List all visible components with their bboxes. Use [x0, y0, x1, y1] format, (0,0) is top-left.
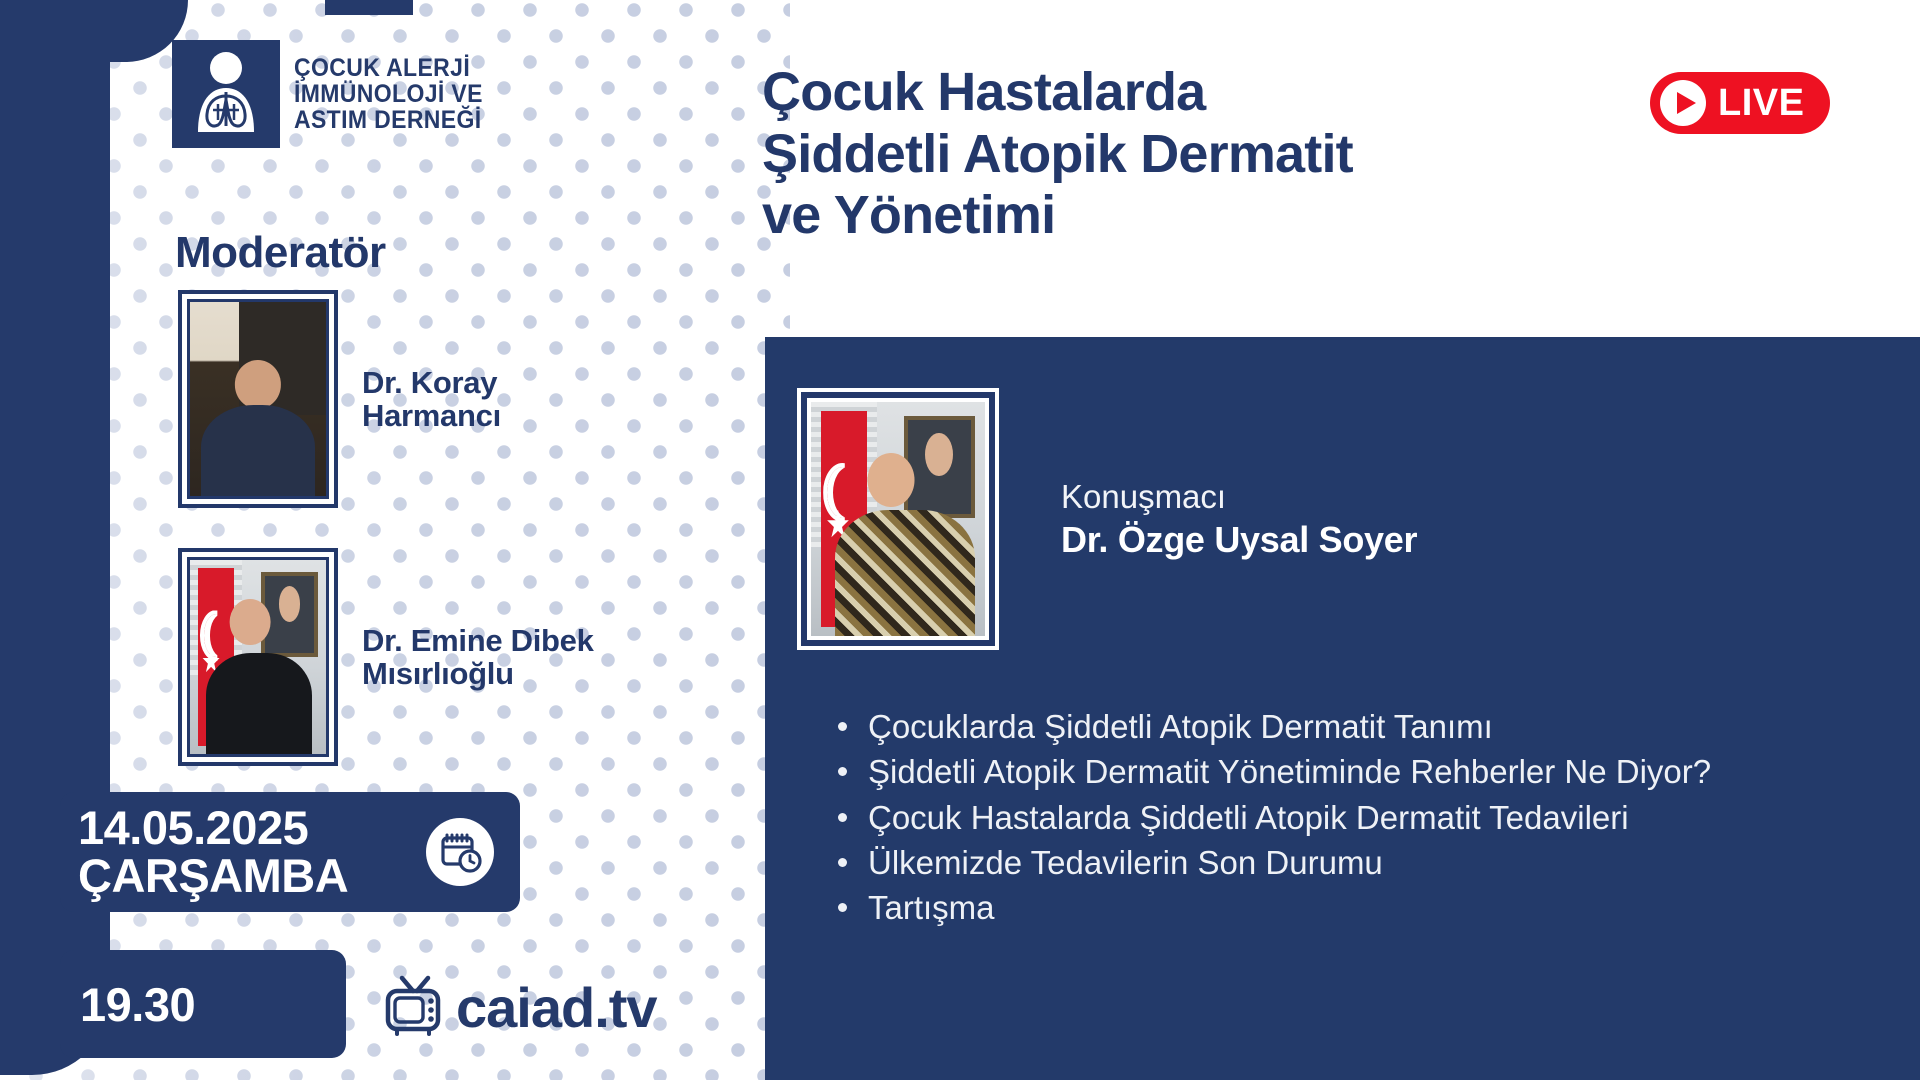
- event-time-box: 19.30: [60, 950, 346, 1058]
- list-item: Ülkemizde Tedavilerin Son Durumu: [830, 842, 1890, 883]
- event-date-box: 14.05.2025 ÇARŞAMBA: [60, 792, 520, 912]
- top-navy-accent-bar: [325, 0, 413, 15]
- moderator-heading: Moderatör: [175, 228, 386, 278]
- moderator-item: Dr. Emine Dibek Mısırlıoğlu: [178, 548, 642, 766]
- moderator-name: Dr. Emine Dibek Mısırlıoğlu: [362, 624, 642, 691]
- association-name: ÇOCUK ALERJİ İMMÜNOLOJİ VE ASTIM DERNEĞİ: [294, 55, 483, 133]
- avatar: [811, 402, 985, 636]
- dot-fade-overlay: [0, 0, 790, 1080]
- list-item: Şiddetli Atopik Dermatit Yönetiminde Reh…: [830, 751, 1890, 792]
- moderator-name: Dr. Koray Harmancı: [362, 366, 642, 433]
- left-navy-bar: [0, 0, 110, 1075]
- speaker-name: Dr. Özge Uysal Soyer: [1061, 517, 1417, 562]
- television-icon: [382, 972, 448, 1043]
- association-logo: ÇOCUK ALERJİ İMMÜNOLOJİ VE ASTIM DERNEĞİ: [172, 40, 499, 148]
- avatar: [190, 560, 326, 754]
- page-title: Çocuk Hastalarda Şiddetli Atopik Dermati…: [762, 62, 1542, 247]
- moderator-photo-frame: [178, 548, 338, 766]
- event-time: 19.30: [80, 977, 195, 1032]
- live-badge[interactable]: LIVE: [1650, 72, 1830, 134]
- live-label: LIVE: [1718, 82, 1804, 125]
- person-lungs-icon: [172, 40, 280, 148]
- list-item: Çocuk Hastalarda Şiddetli Atopik Dermati…: [830, 797, 1890, 838]
- webinar-poster: ÇOCUK ALERJİ İMMÜNOLOJİ VE ASTIM DERNEĞİ…: [0, 0, 1920, 1080]
- moderator-photo-frame: [178, 290, 338, 508]
- topic-list: Çocuklarda Şiddetli Atopik Dermatit Tanı…: [830, 706, 1890, 932]
- list-item: Çocuklarda Şiddetli Atopik Dermatit Tanı…: [830, 706, 1890, 747]
- broadcast-url: caiad.tv: [456, 975, 657, 1040]
- event-date: 14.05.2025 ÇARŞAMBA: [78, 804, 348, 900]
- calendar-clock-icon: [426, 818, 494, 886]
- speaker-role: Konuşmacı: [1061, 476, 1417, 517]
- speaker-block: Konuşmacı Dr. Özge Uysal Soyer: [797, 388, 1417, 650]
- avatar: [190, 302, 326, 496]
- play-icon: [1660, 80, 1706, 126]
- moderator-item: Dr. Koray Harmancı: [178, 290, 642, 508]
- list-item: Tartışma: [830, 887, 1890, 928]
- speaker-photo-frame: [797, 388, 999, 650]
- broadcast-channel[interactable]: caiad.tv: [382, 972, 657, 1043]
